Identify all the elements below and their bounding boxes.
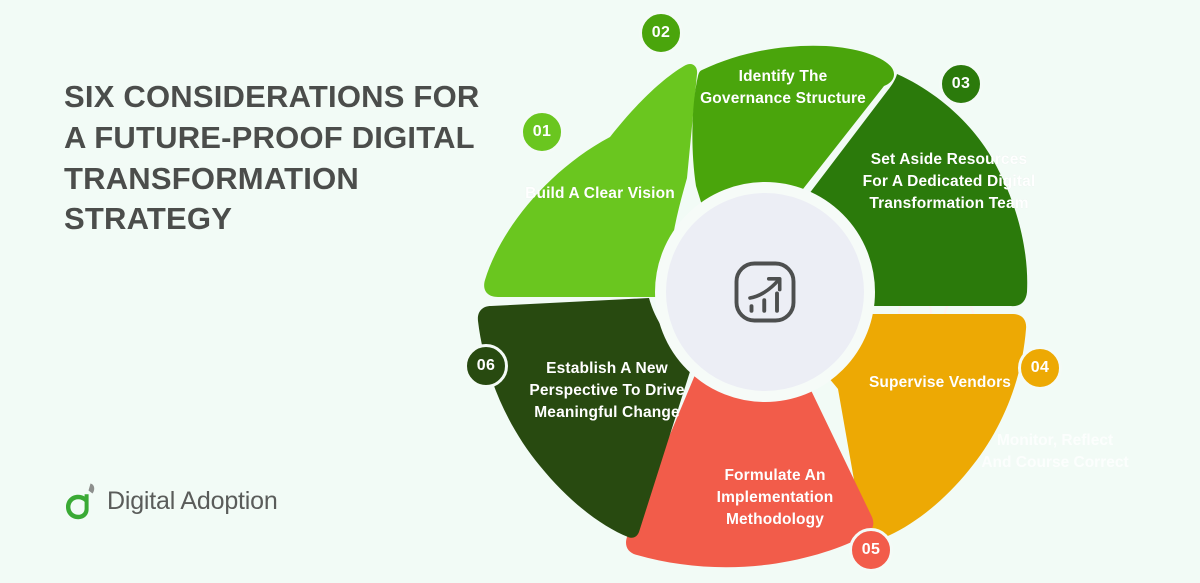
ghost-line-2: And Course Correct <box>970 452 1140 474</box>
growth-chart-icon <box>729 256 801 328</box>
logo-wordmark: Digital Adoption <box>107 487 278 516</box>
petal-badge-01[interactable]: 01 <box>520 110 564 154</box>
infographic-canvas: Six Considerations For A Future-Proof Di… <box>0 0 1200 583</box>
brand-logo[interactable]: Digital Adoption <box>64 482 278 520</box>
six-petal-wheel: Monitor, Reflect And Course Correct Buil… <box>440 0 1070 583</box>
petal-badge-06[interactable]: 06 <box>464 344 508 388</box>
petal-badge-02[interactable]: 02 <box>639 11 683 55</box>
center-hub[interactable] <box>655 182 875 402</box>
digital-adoption-mark-icon <box>64 482 98 520</box>
petal-badge-05[interactable]: 05 <box>849 528 893 572</box>
ghost-line-1: Monitor, Reflect <box>970 430 1140 452</box>
page-title: Six Considerations For A Future-Proof Di… <box>64 77 484 241</box>
ghost-label-monitor: Monitor, Reflect And Course Correct <box>970 430 1140 474</box>
petal-badge-04[interactable]: 04 <box>1018 346 1062 390</box>
petal-badge-03[interactable]: 03 <box>939 62 983 106</box>
